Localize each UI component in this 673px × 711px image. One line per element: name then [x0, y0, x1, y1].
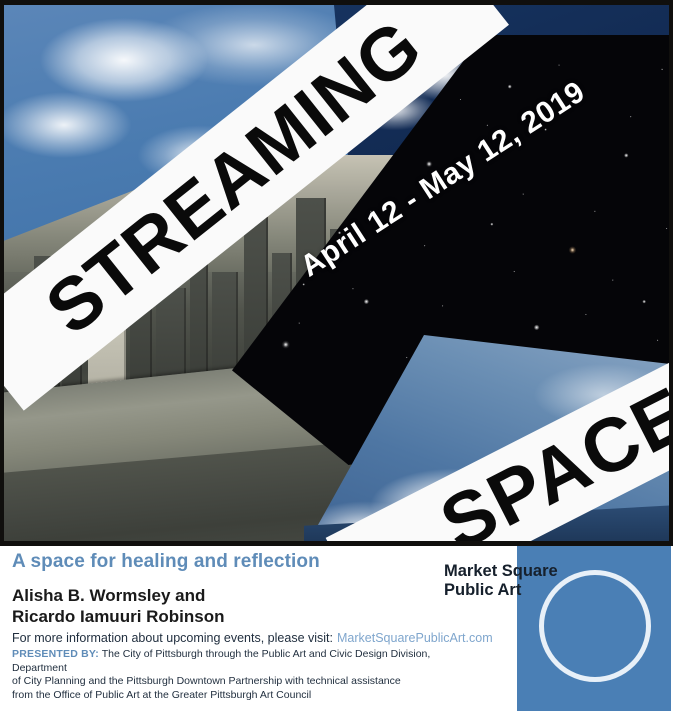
logo-wordmark: Market Square Public Art — [444, 562, 558, 600]
presented-by-label: PRESENTED BY: — [12, 648, 99, 660]
artist-line-2: Ricardo Iamuuri Robinson — [12, 607, 225, 626]
info-text-block: A space for healing and reflection Alish… — [12, 552, 512, 703]
info-panel: Market Square Public Art A space for hea… — [0, 546, 673, 711]
poster-tagline: A space for healing and reflection — [12, 552, 512, 573]
credits-line-2: of City Planning and the Pittsburgh Down… — [12, 675, 401, 687]
artist-line-1: Alisha B. Wormsley and — [12, 586, 205, 605]
more-info-text: For more information about upcoming even… — [12, 631, 333, 645]
credits-line-3: from the Office of Public Art at the Gre… — [12, 689, 311, 701]
logo-line-1: Market Square — [444, 562, 558, 581]
artist-names: Alisha B. Wormsley and Ricardo Iamuuri R… — [12, 585, 512, 628]
website-url-link[interactable]: MarketSquarePublicArt.com — [337, 631, 493, 645]
poster-artwork: April 12 - May 12, 2019 STREAMING SPACE — [0, 0, 673, 546]
presented-by-credits: PRESENTED BY: The City of Pittsburgh thr… — [12, 648, 482, 703]
artwork-canvas: April 12 - May 12, 2019 STREAMING SPACE — [4, 5, 669, 541]
more-information-line: For more information about upcoming even… — [12, 630, 512, 646]
logo-line-2: Public Art — [444, 581, 558, 600]
poster-root: April 12 - May 12, 2019 STREAMING SPACE … — [0, 0, 673, 711]
